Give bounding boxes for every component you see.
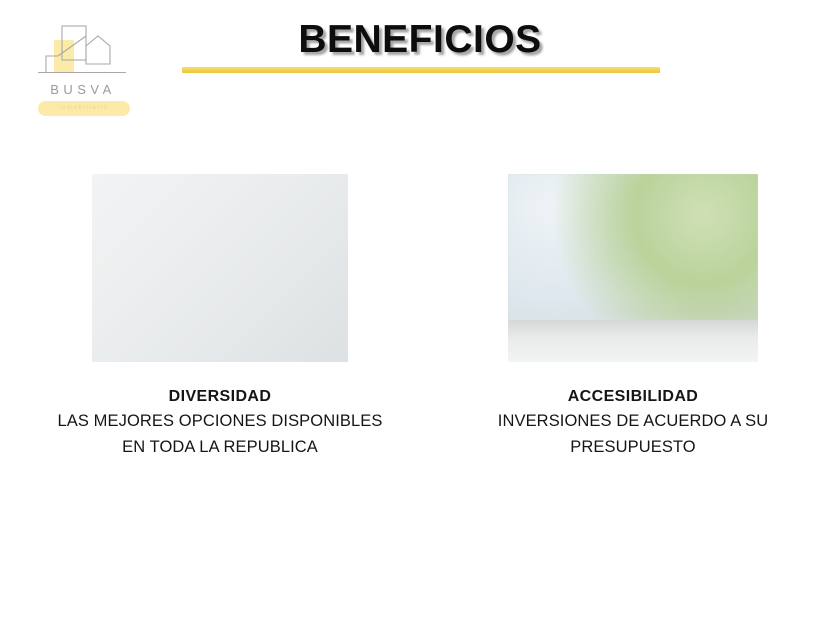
table-surface xyxy=(508,320,758,362)
brand-logo[interactable]: BUSVA inmobiliaria xyxy=(28,22,138,122)
benefit-caption-accesibilidad: ACCESIBILIDAD INVERSIONES DE ACUERDO A S… xyxy=(440,386,826,460)
brand-tagline: inmobiliaria xyxy=(38,102,130,115)
benefit-column-accesibilidad: ACCESIBILIDAD INVERSIONES DE ACUERDO A S… xyxy=(440,174,826,460)
mexico-flag-map-image xyxy=(92,174,348,362)
title-underline-rule xyxy=(182,67,660,73)
brand-name: BUSVA xyxy=(28,82,138,97)
benefit-description-line: EN TODA LA REPUBLICA xyxy=(18,434,422,460)
benefit-description-line: PRESUPUESTO xyxy=(440,434,826,460)
benefit-description-line: LAS MEJORES OPCIONES DISPONIBLES xyxy=(18,408,422,434)
benefit-column-diversidad: DIVERSIDAD LAS MEJORES OPCIONES DISPONIB… xyxy=(18,174,422,460)
benefit-heading: ACCESIBILIDAD xyxy=(440,386,826,408)
slide-beneficios: BUSVA inmobiliaria BENEFICIOS xyxy=(0,0,840,630)
page-title: BENEFICIOS xyxy=(160,18,680,62)
benefit-description-line: INVERSIONES DE ACUERDO A SU xyxy=(440,408,826,434)
brand-tagline-highlight: inmobiliaria xyxy=(38,101,130,116)
benefit-heading: DIVERSIDAD xyxy=(18,386,422,408)
building-outline-logo-icon xyxy=(28,22,138,84)
house-and-coins-image xyxy=(508,174,758,362)
benefit-caption-diversidad: DIVERSIDAD LAS MEJORES OPCIONES DISPONIB… xyxy=(18,386,422,460)
